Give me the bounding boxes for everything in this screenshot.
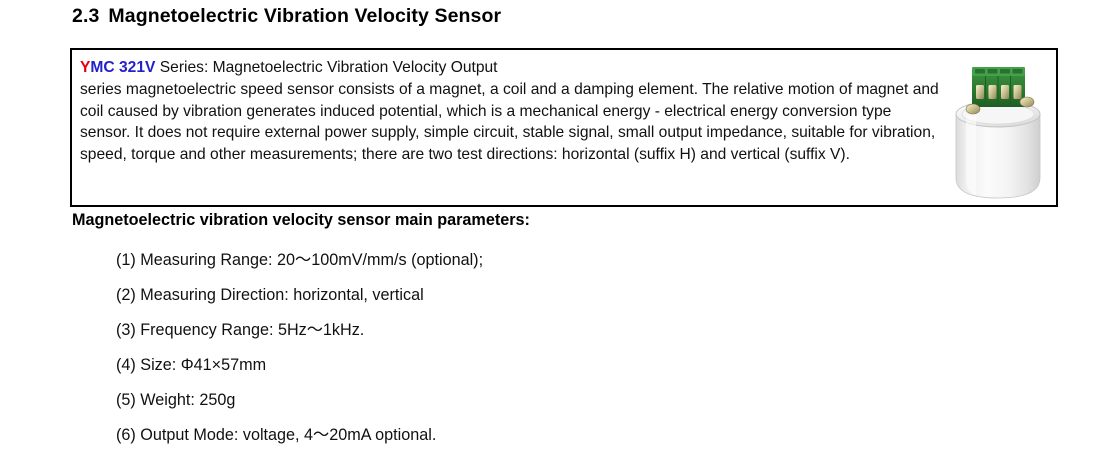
parameter-item-2: (2) Measuring Direction: horizontal, ver… [116,278,916,313]
product-body-text: series magnetoelectric speed sensor cons… [80,81,939,163]
brand-prefix: Y [80,59,90,76]
product-description-text: YMC 321V Series: Magnetoelectric Vibrati… [80,57,942,166]
terminal-slot-2 [988,69,998,74]
parameter-item-5: (5) Weight: 250g [116,383,916,418]
product-description-box: YMC 321V Series: Magnetoelectric Vibrati… [70,48,1058,207]
sensor-product-image [942,52,1054,205]
parameter-item-6: (6) Output Mode: voltage, 4～20mA optiona… [116,418,916,453]
page-title: 2.3Magnetoelectric Vibration Velocity Se… [72,5,501,28]
terminal-screw-3 [1001,85,1009,99]
parameter-item-3: (3) Frequency Range: 5Hz～1kHz. [116,313,916,348]
sensor-body-highlight [966,116,976,195]
product-series-line: Series: Magnetoelectric Vibration Veloci… [155,59,497,76]
sensor-illustration [942,52,1054,205]
section-number: 2.3 [72,5,99,27]
mounting-screw-left [966,104,980,114]
terminal-screw-1 [976,85,984,99]
mounting-screw-right [1020,97,1034,107]
parameter-item-4: (4) Size: Φ41×57mm [116,348,916,383]
terminal-slot-1 [975,69,985,74]
brand-model: MC 321V [90,59,155,76]
section-title-text: Magnetoelectric Vibration Velocity Senso… [108,5,501,27]
parameters-list: (1) Measuring Range: 20～100mV/mm/s (opti… [116,243,916,453]
terminal-slot-3 [1000,69,1010,74]
terminal-slot-4 [1013,69,1023,74]
parameters-heading: Magnetoelectric vibration velocity senso… [72,211,530,230]
terminal-screw-4 [1014,85,1022,99]
terminal-screw-2 [989,85,997,99]
parameter-item-1: (1) Measuring Range: 20～100mV/mm/s (opti… [116,243,916,278]
